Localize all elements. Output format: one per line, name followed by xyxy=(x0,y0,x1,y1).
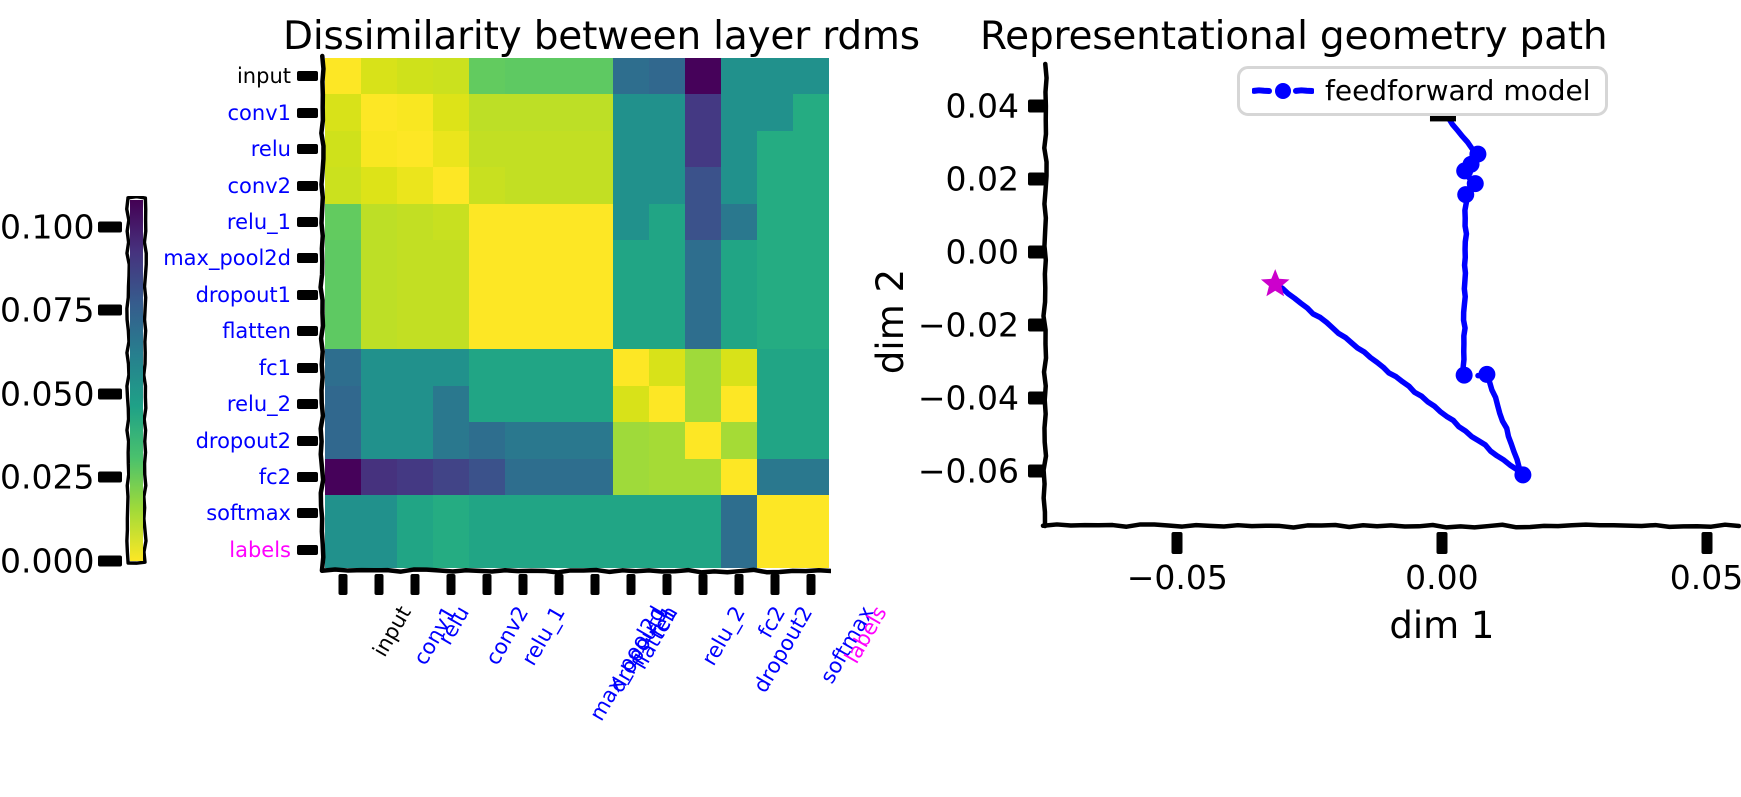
scatter-x-tick xyxy=(1436,532,1447,554)
heatmap-cell[interactable] xyxy=(613,495,649,531)
scatter-x-tick-label: −0.05 xyxy=(1127,558,1228,597)
heatmap-x-tick xyxy=(375,574,384,595)
scatter-y-tick-label: −0.06 xyxy=(0,452,1019,491)
heatmap-cell[interactable] xyxy=(721,495,757,531)
heatmap-cell[interactable] xyxy=(685,532,721,568)
heatmap-y-label: labels xyxy=(0,538,291,562)
heatmap-cell[interactable] xyxy=(685,495,721,531)
scatter-y-tick-label: 0.04 xyxy=(0,86,1019,125)
heatmap-cell[interactable] xyxy=(793,532,829,568)
heatmap-cell[interactable] xyxy=(649,532,685,568)
heatmap-cell[interactable] xyxy=(433,495,469,531)
figure-canvas: Dissimilarity between layer rdms Represe… xyxy=(0,0,1741,797)
scatter-y-tick-label: −0.04 xyxy=(0,379,1019,418)
path-point-marker[interactable] xyxy=(1469,146,1486,163)
scatter-xlabel: dim 1 xyxy=(1389,604,1494,647)
scatter-y-tick xyxy=(1028,319,1045,332)
heatmap-cell[interactable] xyxy=(649,495,685,531)
path-point-marker[interactable] xyxy=(1456,367,1473,384)
scatter-y-tick-label: 0.02 xyxy=(0,159,1019,198)
scatter-y-tick xyxy=(1028,99,1045,112)
heatmap-x-tick xyxy=(627,574,636,595)
scatter-y-tick-label: 0.00 xyxy=(0,232,1019,271)
heatmap-cell[interactable] xyxy=(433,532,469,568)
heatmap-y-label: dropout2 xyxy=(0,429,291,453)
heatmap-x-tick xyxy=(483,574,492,595)
heatmap-cell[interactable] xyxy=(757,532,793,568)
heatmap-y-tick xyxy=(297,436,318,446)
heatmap-x-tick xyxy=(771,574,780,595)
heatmap-cell[interactable] xyxy=(577,495,613,531)
scatter-panel[interactable] xyxy=(985,58,1741,618)
heatmap-y-tick xyxy=(297,363,318,373)
path-point-marker[interactable] xyxy=(1478,366,1495,383)
scatter-ylabel: dim 2 xyxy=(869,269,912,374)
heatmap-cell[interactable] xyxy=(397,532,433,568)
heatmap-cell[interactable] xyxy=(505,495,541,531)
heatmap-y-label: relu_1 xyxy=(0,210,291,234)
legend-label: feedforward model xyxy=(1325,74,1591,107)
scatter-x-tick-label: 0.00 xyxy=(1405,558,1478,597)
heatmap-cell[interactable] xyxy=(469,532,505,568)
heatmap-x-tick xyxy=(447,574,456,595)
heatmap-cell[interactable] xyxy=(541,532,577,568)
scatter-y-tick xyxy=(1028,245,1045,258)
heatmap-y-label: fc1 xyxy=(0,356,291,380)
scatter-title: Representational geometry path xyxy=(980,14,1607,59)
heatmap-y-label: dropout1 xyxy=(0,283,291,307)
path-point-marker[interactable] xyxy=(1514,466,1531,483)
heatmap-y-tick xyxy=(297,508,318,518)
heatmap-y-tick xyxy=(297,144,318,154)
heatmap-title: Dissimilarity between layer rdms xyxy=(283,14,920,59)
heatmap-y-tick xyxy=(297,290,318,300)
heatmap-x-tick xyxy=(807,574,816,595)
heatmap-x-tick xyxy=(699,574,708,595)
heatmap-y-tick xyxy=(297,545,318,555)
heatmap-y-tick xyxy=(297,217,318,227)
heatmap-cell[interactable] xyxy=(325,495,361,531)
heatmap-cell[interactable] xyxy=(469,495,505,531)
scatter-plot-svg xyxy=(985,58,1741,618)
heatmap-x-tick xyxy=(519,574,528,595)
scatter-x-tick xyxy=(1172,532,1183,554)
scatter-x-tick-label: 0.05 xyxy=(1670,558,1741,597)
heatmap-cell[interactable] xyxy=(397,495,433,531)
heatmap-cell[interactable] xyxy=(505,532,541,568)
heatmap-cell[interactable] xyxy=(577,532,613,568)
scatter-x-tick xyxy=(1701,532,1712,554)
heatmap-cell[interactable] xyxy=(757,495,793,531)
heatmap-cell[interactable] xyxy=(325,532,361,568)
scatter-y-tick xyxy=(1028,392,1045,405)
heatmap-cell[interactable] xyxy=(613,532,649,568)
scatter-y-tick xyxy=(1028,465,1045,478)
heatmap-cell[interactable] xyxy=(721,532,757,568)
heatmap-x-tick xyxy=(735,574,744,595)
heatmap-x-tick xyxy=(411,574,420,595)
heatmap-x-tick xyxy=(339,574,348,595)
heatmap-y-label: softmax xyxy=(0,501,291,525)
heatmap-cell[interactable] xyxy=(361,495,397,531)
heatmap-x-tick xyxy=(555,574,564,595)
heatmap-cell[interactable] xyxy=(361,532,397,568)
heatmap-y-label: input xyxy=(0,64,291,88)
heatmap-y-tick xyxy=(297,71,318,81)
heatmap-cell[interactable] xyxy=(541,495,577,531)
legend-line-marker-icon xyxy=(1252,78,1314,104)
heatmap-x-label: relu_2 xyxy=(697,602,750,670)
scatter-y-tick xyxy=(1028,172,1045,185)
heatmap-y-label: relu xyxy=(0,137,291,161)
heatmap-x-tick xyxy=(663,574,672,595)
heatmap-x-tick xyxy=(591,574,600,595)
heatmap-x-label: input xyxy=(368,602,416,661)
scatter-legend[interactable]: feedforward model xyxy=(1237,66,1608,116)
scatter-y-tick-label: −0.02 xyxy=(0,306,1019,345)
heatmap-cell[interactable] xyxy=(793,495,829,531)
